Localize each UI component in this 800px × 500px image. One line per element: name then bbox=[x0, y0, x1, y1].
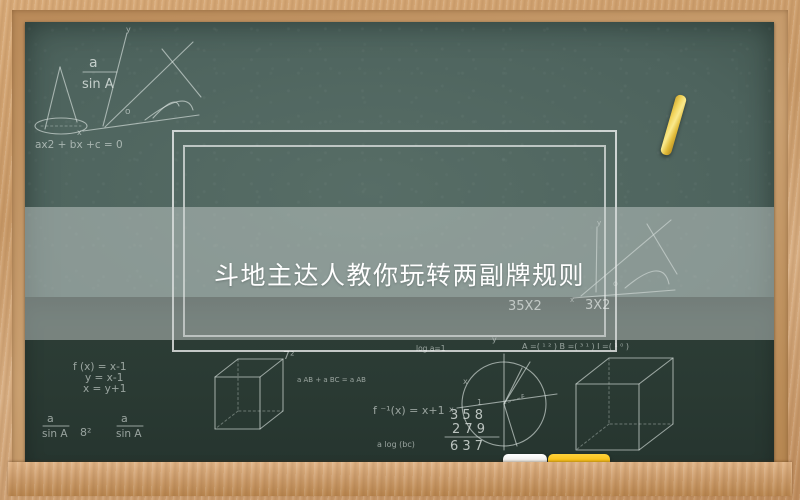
gold-chalk-stick bbox=[660, 94, 688, 157]
svg-text:y: y bbox=[126, 25, 131, 34]
svg-text:ax2 + bx +c = 0: ax2 + bx +c = 0 bbox=[35, 139, 123, 151]
page-title: 斗地主达人教你玩转两副牌规则 bbox=[214, 256, 585, 292]
chalk-ledge bbox=[8, 462, 792, 496]
svg-text:x: x bbox=[77, 128, 82, 137]
chalkboard-surface: a sin A ax2 + bx +c = 0 y x o bbox=[25, 22, 774, 464]
chalkboard-screenshot: a sin A ax2 + bx +c = 0 y x o bbox=[0, 0, 800, 500]
svg-text:a: a bbox=[89, 55, 98, 71]
svg-text:o: o bbox=[125, 107, 131, 117]
cone-drawing bbox=[35, 67, 87, 134]
title-banner: 斗地主达人教你玩转两副牌规则 bbox=[25, 207, 774, 340]
angle-diagram-top-left: y x o bbox=[77, 25, 201, 137]
svg-text:sin A: sin A bbox=[82, 77, 114, 92]
